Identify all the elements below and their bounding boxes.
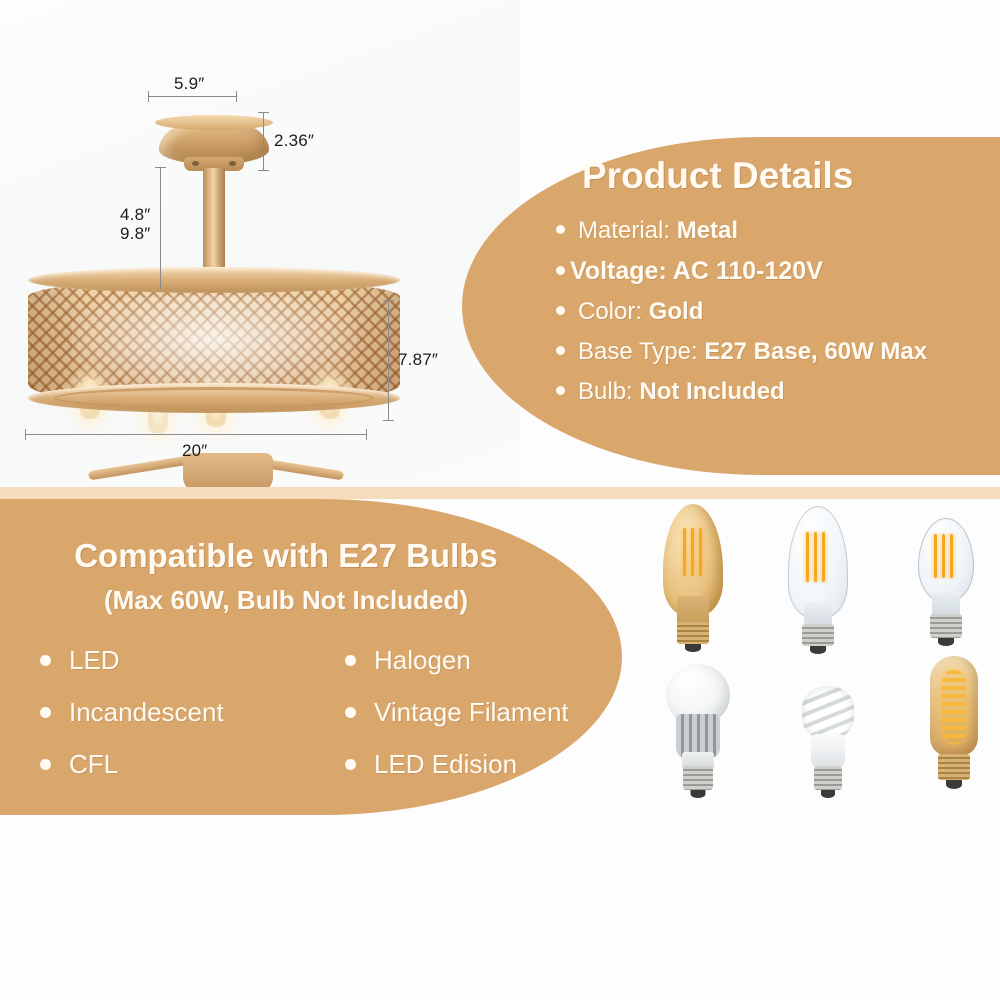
e27-screw-base: [930, 614, 962, 638]
base-tip: [691, 790, 706, 798]
bullet-icon: [556, 306, 565, 315]
drum-cage: [28, 267, 400, 417]
dimension-tick: [258, 112, 269, 113]
cfl-spiral-bulb: [796, 686, 860, 810]
bulb-type-incandescent: Incandescent: [69, 697, 224, 728]
canopy-lip: [155, 115, 273, 130]
infographic-canvas: 5.9″ 2.36″ 4.8″ 9.8″ 7.87″ 20″ Product D…: [0, 0, 1000, 1000]
base-tip: [938, 638, 954, 646]
compatible-subtitle: (Max 60W, Bulb Not Included): [26, 585, 546, 616]
bullet-icon: [345, 707, 356, 718]
dimension-tick: [148, 91, 149, 102]
e27-screw-base: [683, 766, 713, 790]
coiled-filament: [942, 670, 966, 744]
e27-screw-base: [814, 766, 842, 790]
compatible-left-column: LED Incandescent CFL: [40, 645, 295, 801]
dimension-line-downrod: [160, 167, 161, 289]
detail-row-voltage: Voltage: AC 110-120V: [556, 257, 996, 286]
filament: [942, 534, 945, 578]
bullet-icon: [556, 386, 565, 395]
filament: [814, 532, 817, 582]
bulb-gallery: [620, 496, 1000, 826]
dimension-label-fixture-diameter: 20″: [182, 441, 208, 461]
dimension-tick: [155, 167, 166, 168]
bullet-icon: [556, 225, 565, 234]
drum-interior-glow: [72, 295, 356, 391]
bulb-glass: [918, 518, 974, 602]
dimension-tick: [383, 300, 394, 301]
bulb-type-cfl: CFL: [69, 749, 118, 780]
bullet-icon: [556, 266, 565, 275]
dimension-line-canopy-width: [148, 96, 236, 97]
dimension-line-canopy-height: [263, 112, 264, 170]
detail-row-bulb: Bulb: Not Included: [556, 378, 996, 406]
filament: [699, 528, 702, 576]
list-item: Halogen: [345, 645, 600, 676]
compatible-columns: LED Incandescent CFL Halogen V: [40, 645, 600, 801]
dimension-line-fixture-height: [388, 300, 389, 420]
filament: [822, 532, 825, 582]
list-item: Vintage Filament: [345, 697, 600, 728]
detail-row-base-type: Base Type: E27 Base, 60W Max: [556, 338, 996, 366]
bullet-icon: [556, 346, 565, 355]
e27-screw-base: [677, 622, 709, 644]
bullet-icon: [40, 759, 51, 770]
dimension-tick: [236, 91, 237, 102]
dimension-tick: [383, 420, 394, 421]
dimension-label-canopy-height: 2.36″: [274, 131, 314, 151]
drum-top-rim: [28, 267, 400, 293]
bullet-icon: [40, 655, 51, 666]
product-details-title: Product Details: [582, 155, 853, 197]
bullet-icon: [345, 759, 356, 770]
bulb-type-halogen: Halogen: [374, 645, 471, 676]
detail-material: Material: Metal: [578, 217, 738, 245]
dimension-label-downrod-long: 9.8″: [120, 224, 150, 244]
bulb-type-led: LED: [69, 645, 120, 676]
detail-bulb: Bulb: Not Included: [578, 378, 785, 406]
product-details-list: Material: Metal Voltage: AC 110-120V Col…: [556, 217, 996, 418]
clear-filament-a19-bulb: [910, 518, 982, 658]
cfl-ballast: [811, 734, 845, 768]
detail-voltage: Voltage: AC 110-120V: [570, 257, 823, 286]
dimension-tick: [366, 429, 367, 440]
product-photo-area: 5.9″ 2.36″ 4.8″ 9.8″ 7.87″ 20″: [0, 0, 520, 490]
compatible-title: Compatible with E27 Bulbs: [26, 537, 546, 575]
base-tip: [810, 646, 826, 654]
compatible-bulbs-panel: Compatible with E27 Bulbs (Max 60W, Bulb…: [0, 499, 622, 815]
dimension-label-downrod-short: 4.8″: [120, 205, 150, 225]
filament: [691, 528, 694, 576]
dimension-tick: [258, 170, 269, 171]
dimension-line-fixture-diameter: [25, 434, 366, 435]
canopy-screw: [192, 161, 199, 166]
list-item: LED Edision: [345, 749, 600, 780]
detail-color: Color: Gold: [578, 298, 703, 326]
cfl-spiral-tube: [802, 686, 854, 740]
product-details-panel: Product Details Material: Metal Voltage:…: [462, 137, 1000, 475]
led-globe-bulb: [662, 664, 734, 804]
filament: [806, 532, 809, 582]
bulb-type-led-edison: LED Edision: [374, 749, 517, 780]
list-item: Incandescent: [40, 697, 295, 728]
dimension-label-canopy-width: 5.9″: [174, 74, 204, 94]
detail-row-color: Color: Gold: [556, 298, 996, 326]
ceiling-fan-product-image: [14, 95, 414, 445]
compatible-right-column: Halogen Vintage Filament LED Edision: [345, 645, 600, 801]
vintage-tubular-t45-bulb: [920, 656, 988, 806]
bullet-icon: [345, 655, 356, 666]
bulb-type-vintage-filament: Vintage Filament: [374, 697, 569, 728]
filament: [934, 534, 937, 578]
detail-row-material: Material: Metal: [556, 217, 996, 245]
filament: [683, 528, 686, 576]
base-tip: [685, 644, 701, 652]
clear-filament-st64-bulb: [780, 506, 856, 656]
base-tip: [821, 790, 835, 798]
dimension-tick: [25, 429, 26, 440]
base-tip: [946, 780, 962, 789]
e27-screw-base: [938, 754, 970, 780]
fan-arm: [88, 455, 196, 481]
canopy-screw: [229, 161, 236, 166]
list-item: CFL: [40, 749, 295, 780]
list-item: LED: [40, 645, 295, 676]
e27-screw-base: [802, 624, 834, 646]
dimension-label-fixture-height: 7.87″: [398, 350, 438, 370]
amber-edison-st64-bulb: [655, 504, 731, 654]
bullet-icon: [40, 707, 51, 718]
detail-base-type: Base Type: E27 Base, 60W Max: [578, 338, 927, 366]
drum-bottom-inner-ring: [54, 387, 374, 409]
filament: [950, 534, 953, 578]
